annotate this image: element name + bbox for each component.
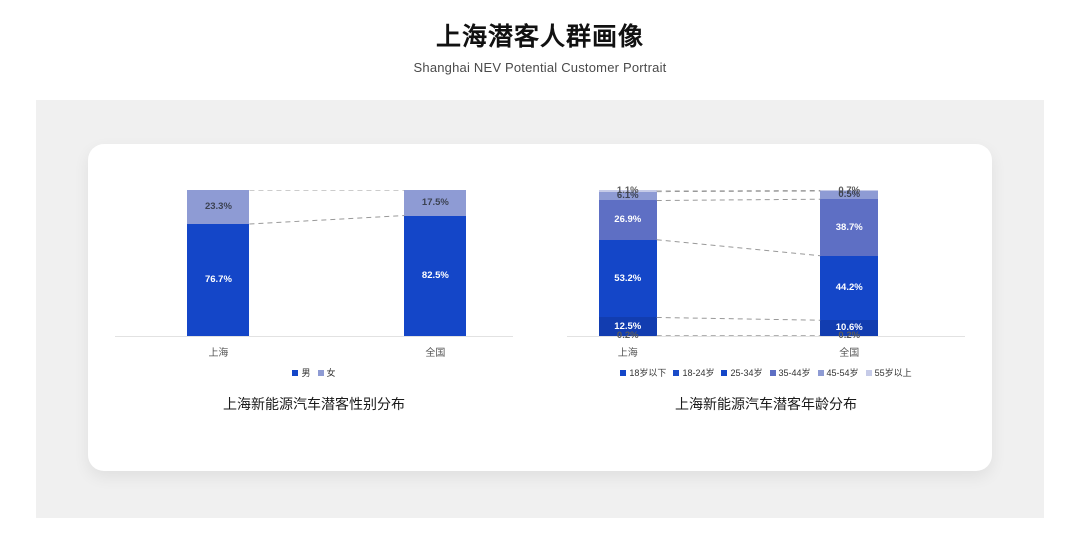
bar-segment[interactable]: 17.5% [404, 190, 466, 216]
legend-label: 45-54岁 [827, 366, 859, 379]
bar-segment[interactable]: 6.1% [599, 192, 657, 201]
chart-gender: 23.3%76.7%17.5%82.5%上海全国男女上海新能源汽车潜客性别分布 [88, 144, 540, 471]
bar-segment[interactable]: 26.9% [599, 200, 657, 239]
chart-caption: 上海新能源汽车潜客年龄分布 [540, 394, 992, 414]
legend-item[interactable]: 45-54岁 [818, 366, 859, 379]
stacked-bar[interactable]: 1.1%6.1%26.9%53.2%12.5%0.2% [599, 190, 657, 336]
chart-legend: 18岁以下18-24岁25-34岁35-44岁45-54岁55岁以上 [540, 366, 992, 379]
legend-label: 18-24岁 [682, 366, 714, 379]
charts-card: 23.3%76.7%17.5%82.5%上海全国男女上海新能源汽车潜客性别分布1… [88, 144, 992, 471]
segment-value-label: 26.9% [614, 215, 641, 225]
chart-caption: 上海新能源汽车潜客性别分布 [88, 394, 540, 414]
legend-swatch-icon [673, 370, 679, 376]
plot-area: 1.1%6.1%26.9%53.2%12.5%0.2%0.7%0.5%38.7%… [540, 190, 992, 336]
segment-value-label: 53.2% [614, 274, 641, 284]
legend-label: 女 [327, 366, 336, 379]
stacked-bar[interactable]: 23.3%76.7% [187, 190, 249, 336]
legend-label: 35-44岁 [779, 366, 811, 379]
chart-legend: 男女 [88, 366, 540, 379]
legend-label: 男 [301, 366, 310, 379]
bar-segment[interactable]: 76.7% [187, 224, 249, 336]
segment-value-label: 0.2% [617, 331, 639, 341]
bar-segment[interactable]: 53.2% [599, 240, 657, 318]
segment-value-label: 17.5% [422, 198, 449, 208]
legend-label: 55岁以上 [875, 366, 912, 379]
page-title: 上海潜客人群画像 [0, 22, 1080, 53]
bar-segment[interactable]: 0.5% [820, 191, 878, 199]
stacked-bar[interactable]: 17.5%82.5% [404, 190, 466, 336]
charts-container: 23.3%76.7%17.5%82.5%上海全国男女上海新能源汽车潜客性别分布1… [88, 144, 992, 471]
x-axis-labels: 上海全国 [88, 340, 540, 360]
legend-swatch-icon [866, 370, 872, 376]
bar-segment[interactable]: 38.7% [820, 199, 878, 256]
segment-value-label: 23.3% [205, 202, 232, 212]
legend-item[interactable]: 男 [292, 366, 310, 379]
legend-label: 25-34岁 [730, 366, 762, 379]
segment-value-label: 44.2% [836, 283, 863, 293]
x-axis-tick-1: 上海 [618, 344, 638, 359]
legend-item[interactable]: 35-44岁 [770, 366, 811, 379]
legend-swatch-icon [318, 370, 324, 376]
legend-item[interactable]: 25-34岁 [721, 366, 762, 379]
legend-swatch-icon [770, 370, 776, 376]
segment-value-label: 0.2% [838, 331, 860, 341]
page-subtitle: Shanghai NEV Potential Customer Portrait [0, 60, 1080, 75]
segment-value-label: 0.5% [838, 190, 860, 200]
x-axis-labels: 上海全国 [540, 340, 992, 360]
legend-item[interactable]: 18岁以下 [620, 366, 666, 379]
page-header: 上海潜客人群画像 Shanghai NEV Potential Customer… [0, 22, 1080, 75]
x-axis-line [115, 336, 513, 337]
legend-item[interactable]: 女 [318, 366, 336, 379]
plot-area: 23.3%76.7%17.5%82.5% [88, 190, 540, 336]
legend-swatch-icon [818, 370, 824, 376]
legend-swatch-icon [620, 370, 626, 376]
legend-item[interactable]: 18-24岁 [673, 366, 714, 379]
bar-segment[interactable]: 44.2% [820, 256, 878, 321]
slide-page: 上海潜客人群画像 Shanghai NEV Potential Customer… [0, 0, 1080, 547]
bar-segment[interactable]: 23.3% [187, 190, 249, 224]
legend-item[interactable]: 55岁以上 [866, 366, 912, 379]
segment-value-label: 76.7% [205, 275, 232, 285]
segment-value-label: 38.7% [836, 223, 863, 233]
legend-swatch-icon [721, 370, 727, 376]
connector-lines [88, 190, 540, 336]
legend-label: 18岁以下 [629, 366, 666, 379]
chart-age: 1.1%6.1%26.9%53.2%12.5%0.2%0.7%0.5%38.7%… [540, 144, 992, 471]
x-axis-tick-2: 全国 [425, 344, 445, 359]
x-axis-tick-2: 全国 [839, 344, 859, 359]
x-axis-tick-1: 上海 [208, 344, 228, 359]
segment-value-label: 6.1% [617, 191, 639, 201]
stacked-bar[interactable]: 0.7%0.5%38.7%44.2%10.6%0.2% [820, 190, 878, 336]
bar-segment[interactable]: 82.5% [404, 216, 466, 336]
legend-swatch-icon [292, 370, 298, 376]
segment-value-label: 82.5% [422, 271, 449, 281]
